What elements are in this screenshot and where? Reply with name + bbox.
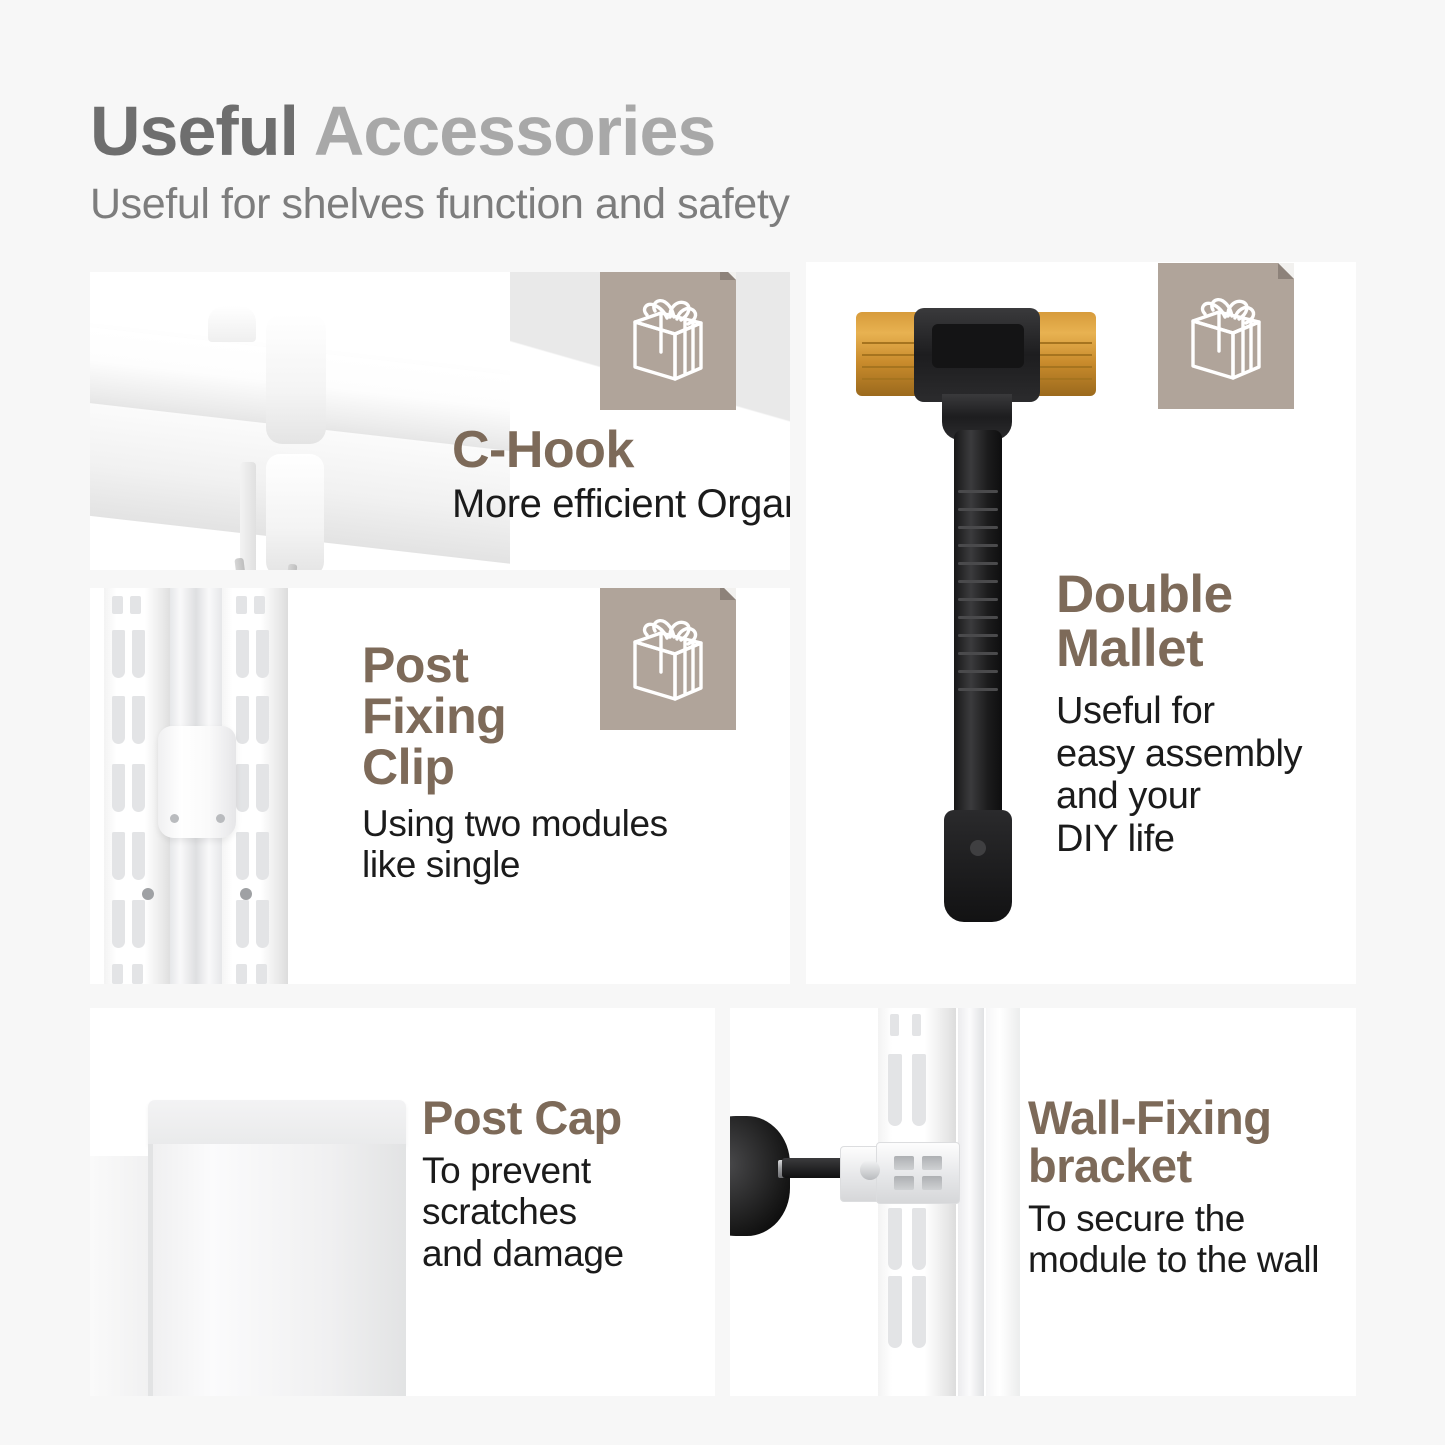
wall-fixing-bracket-product-photo (730, 1008, 1060, 1396)
card-wall-fixing-bracket: Wall-Fixing bracket To secure the module… (730, 1008, 1356, 1396)
double-mallet-text-block: Double Mallet Useful for easy assembly a… (1056, 568, 1356, 860)
desc-line: DIY life (1056, 818, 1356, 861)
desc-line: module to the wall (1028, 1239, 1356, 1280)
post-fixing-clip-text-block: Post Fixing Clip Using two modules like … (362, 640, 782, 886)
desc-line: and your (1056, 775, 1356, 818)
card-post-cap: Post Cap To prevent scratches and damage (90, 1008, 715, 1396)
desc-line: To secure the (1028, 1198, 1356, 1239)
post-fixing-clip-product-photo (90, 588, 305, 984)
double-mallet-description: Useful for easy assembly and your DIY li… (1056, 690, 1356, 860)
gift-box-icon-badge (1158, 263, 1294, 409)
badge-fold-shadow (1278, 263, 1294, 279)
badge-fold-shadow (720, 272, 736, 280)
desc-line: scratches (422, 1191, 715, 1232)
desc-line: Using two modules (362, 803, 782, 844)
badge-fold-shadow (720, 588, 736, 600)
desc-line: Useful for (1056, 690, 1356, 733)
desc-line: and damage (422, 1233, 715, 1274)
desc-line: To prevent (422, 1150, 715, 1191)
page-title: Useful Accessories (90, 96, 1290, 166)
title-line: Mallet (1056, 622, 1356, 676)
post-cap-text-block: Post Cap To prevent scratches and damage (422, 1094, 715, 1274)
post-fixing-clip-description: Using two modules like single (362, 803, 782, 886)
post-fixing-clip-title: Post Fixing Clip (362, 640, 782, 793)
wall-fixing-bracket-text-block: Wall-Fixing bracket To secure the module… (1028, 1094, 1356, 1281)
gift-box-icon-badge (600, 272, 736, 410)
title-line: bracket (1028, 1142, 1356, 1190)
page-header: Useful Accessories Useful for shelves fu… (90, 96, 1290, 227)
desc-line: easy assembly (1056, 733, 1356, 776)
c-hook-description: More efficient Organize (452, 482, 790, 527)
title-line: Double (1056, 568, 1356, 622)
title-line: Clip (362, 742, 782, 793)
c-hook-product-photo (90, 272, 510, 570)
wall-fixing-bracket-description: To secure the module to the wall (1028, 1198, 1356, 1281)
post-cap-description: To prevent scratches and damage (422, 1150, 715, 1274)
double-mallet-title: Double Mallet (1056, 568, 1356, 676)
wall-fixing-bracket-title: Wall-Fixing bracket (1028, 1094, 1356, 1190)
card-c-hook: C-Hook More efficient Organize (90, 272, 790, 570)
post-cap-product-photo (90, 1008, 430, 1396)
post-cap-title: Post Cap (422, 1094, 715, 1142)
desc-line: like single (362, 844, 782, 885)
gift-box-icon (625, 291, 711, 383)
card-double-mallet: Double Mallet Useful for easy assembly a… (806, 262, 1356, 984)
page-title-primary: Useful (90, 92, 298, 170)
c-hook-title: C-Hook (452, 424, 790, 477)
title-line: Fixing (362, 691, 782, 742)
page-title-secondary: Accessories (314, 92, 716, 170)
gift-box-icon (1183, 290, 1269, 382)
card-post-fixing-clip: Post Fixing Clip Using two modules like … (90, 588, 790, 984)
c-hook-text-block: C-Hook More efficient Organize (452, 424, 790, 527)
title-line: Wall-Fixing (1028, 1094, 1356, 1142)
page-subtitle: Useful for shelves function and safety (90, 182, 1290, 227)
title-line: Post (362, 640, 782, 691)
